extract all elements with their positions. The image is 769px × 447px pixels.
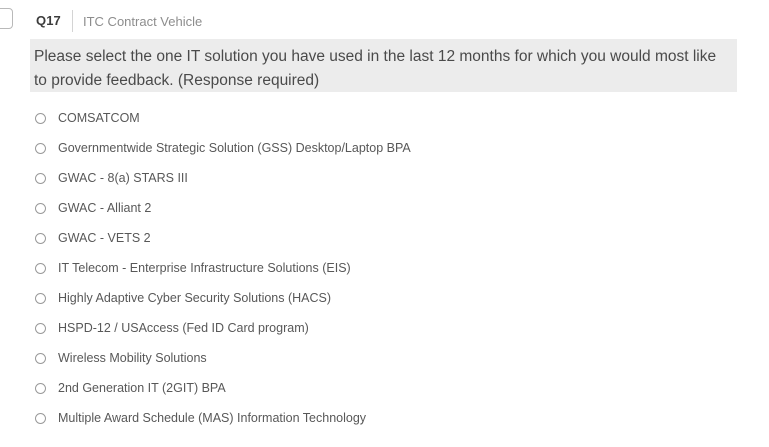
radio-button-icon[interactable] (35, 293, 46, 304)
question-number-label: Q17 (36, 13, 61, 29)
radio-button-icon[interactable] (35, 413, 46, 424)
answer-option-label: Wireless Mobility Solutions (58, 350, 207, 367)
answer-option-label: GWAC - Alliant 2 (58, 200, 151, 217)
question-prompt-text: Please select the one IT solution you ha… (34, 45, 729, 93)
question-category-label: ITC Contract Vehicle (83, 14, 202, 30)
radio-button-icon[interactable] (35, 173, 46, 184)
radio-button-icon[interactable] (35, 203, 46, 214)
answer-option-label: IT Telecom - Enterprise Infrastructure S… (58, 260, 351, 277)
header-divider (72, 10, 73, 32)
answer-option-label: Highly Adaptive Cyber Security Solutions… (58, 290, 331, 307)
answer-option-label: HSPD-12 / USAccess (Fed ID Card program) (58, 320, 309, 337)
answer-option-row[interactable]: GWAC - 8(a) STARS III (0, 164, 769, 194)
radio-button-icon[interactable] (35, 143, 46, 154)
answer-option-label: GWAC - 8(a) STARS III (58, 170, 188, 187)
radio-button-icon[interactable] (35, 383, 46, 394)
answer-option-row[interactable]: GWAC - VETS 2 (0, 224, 769, 254)
answer-option-row[interactable]: IT Telecom - Enterprise Infrastructure S… (0, 254, 769, 284)
radio-button-icon[interactable] (35, 113, 46, 124)
radio-button-icon[interactable] (35, 353, 46, 364)
answer-option-row[interactable]: HSPD-12 / USAccess (Fed ID Card program) (0, 314, 769, 344)
answer-option-row[interactable]: COMSATCOM (0, 104, 769, 134)
answer-option-label: COMSATCOM (58, 110, 140, 127)
answer-options-list: COMSATCOMGovernmentwide Strategic Soluti… (0, 104, 769, 434)
radio-button-icon[interactable] (35, 233, 46, 244)
answer-option-row[interactable]: 2nd Generation IT (2GIT) BPA (0, 374, 769, 404)
answer-option-row[interactable]: Wireless Mobility Solutions (0, 344, 769, 374)
answer-option-label: Multiple Award Schedule (MAS) Informatio… (58, 410, 366, 427)
question-select-checkbox[interactable] (0, 8, 13, 29)
answer-option-row[interactable]: Multiple Award Schedule (MAS) Informatio… (0, 404, 769, 434)
answer-option-row[interactable]: Governmentwide Strategic Solution (GSS) … (0, 134, 769, 164)
answer-option-row[interactable]: Highly Adaptive Cyber Security Solutions… (0, 284, 769, 314)
answer-option-label: Governmentwide Strategic Solution (GSS) … (58, 140, 411, 157)
radio-button-icon[interactable] (35, 323, 46, 334)
answer-option-label: GWAC - VETS 2 (58, 230, 151, 247)
answer-option-label: 2nd Generation IT (2GIT) BPA (58, 380, 226, 397)
question-header: Q17 ITC Contract Vehicle (0, 0, 769, 39)
question-prompt-banner: Please select the one IT solution you ha… (30, 39, 737, 92)
radio-button-icon[interactable] (35, 263, 46, 274)
answer-option-row[interactable]: GWAC - Alliant 2 (0, 194, 769, 224)
